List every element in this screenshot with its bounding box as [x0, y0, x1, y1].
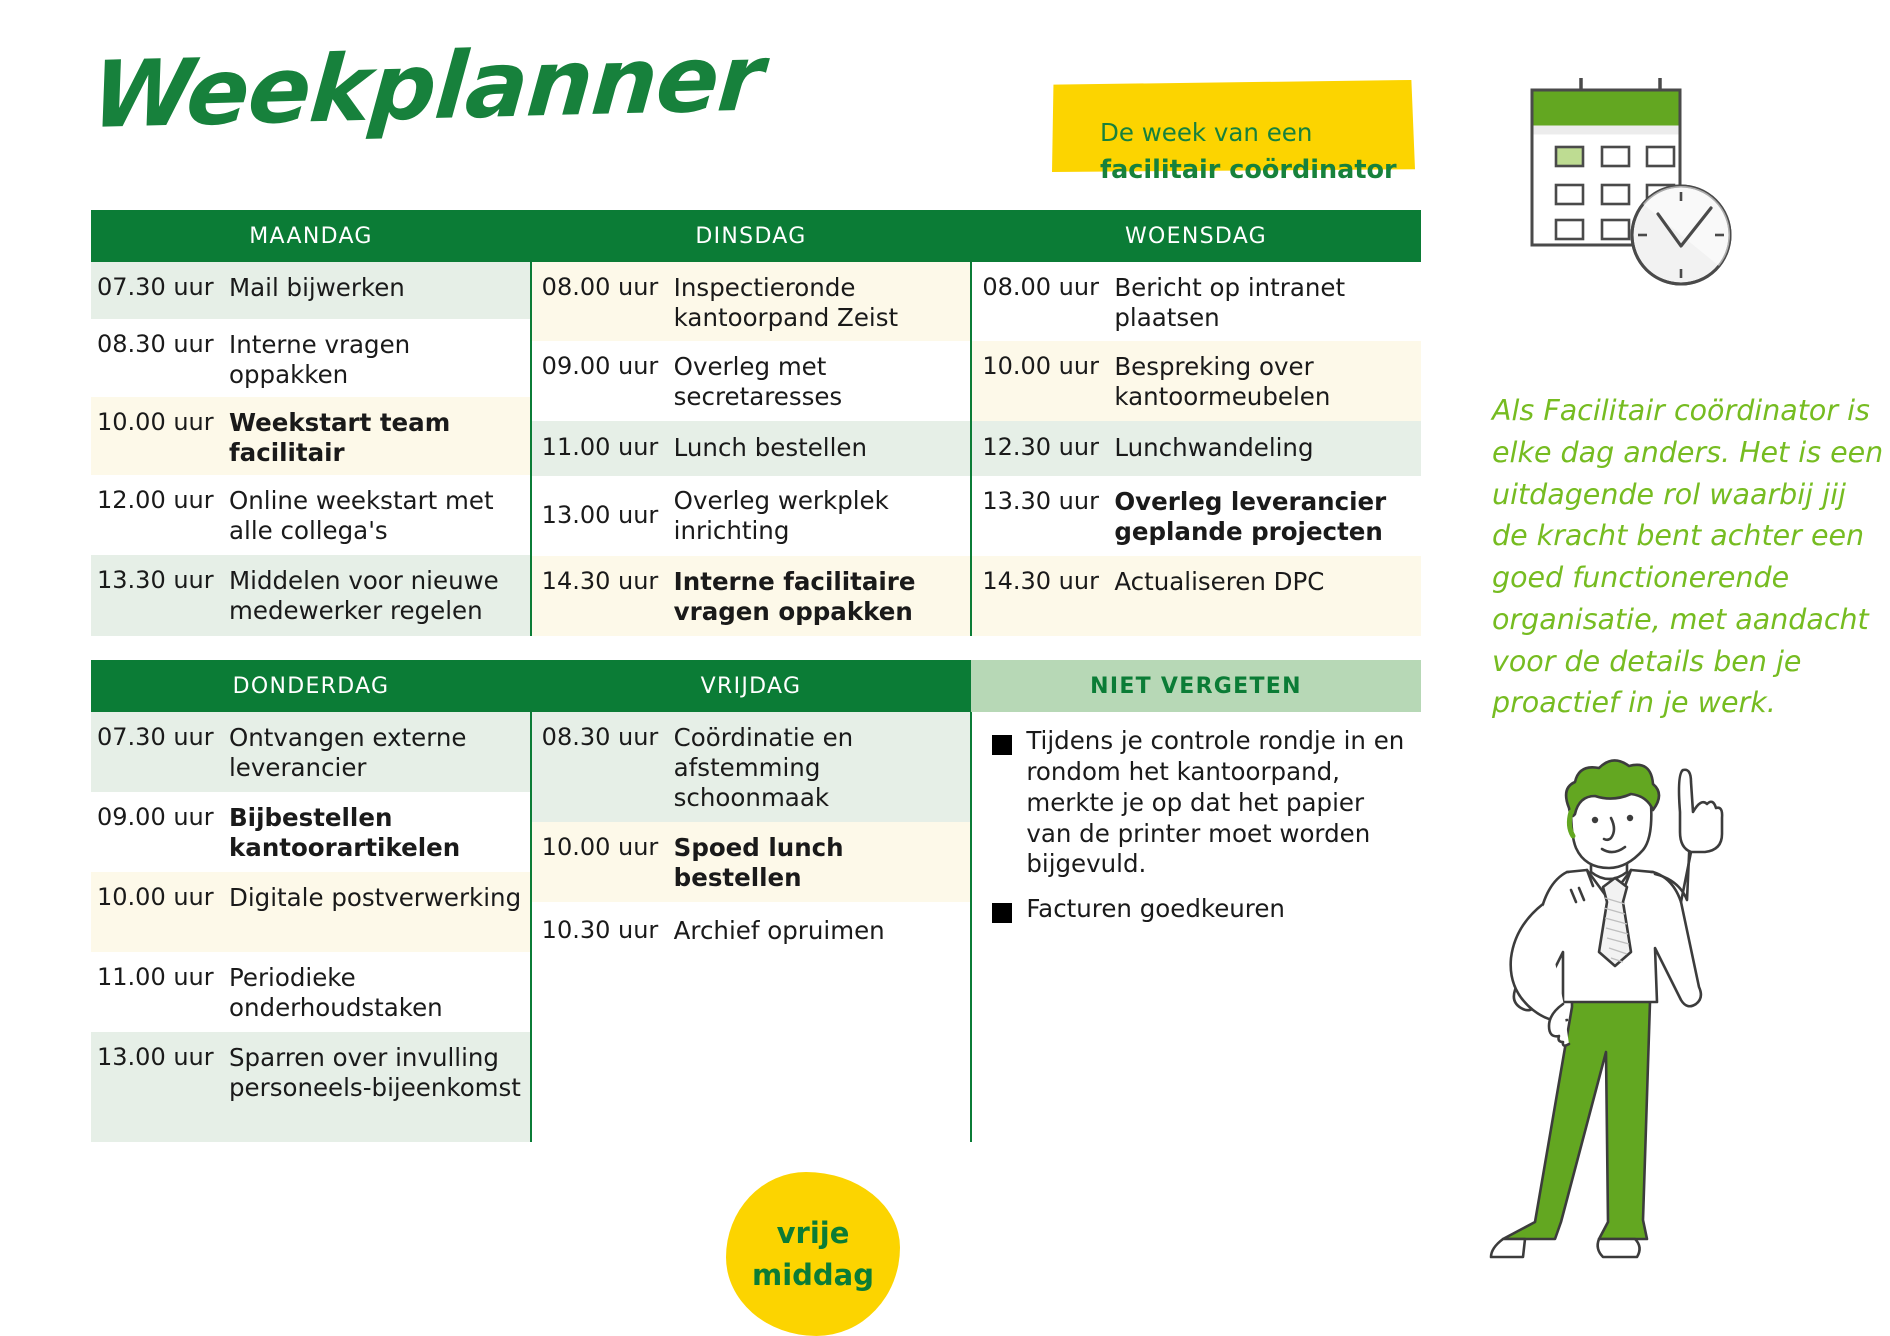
- table-row: 14.30 uur Actualiseren DPC: [972, 556, 1421, 636]
- row-time: 10.00 uur: [978, 352, 1106, 382]
- table-row: 07.30 uur Mail bijwerken: [91, 262, 530, 319]
- row-task: Lunch bestellen: [666, 433, 965, 463]
- free-afternoon-label: vrije middag: [726, 1172, 900, 1336]
- row-time: 13.00 uur: [538, 501, 666, 531]
- table-row: 13.00 uur Overleg werkplek inrichting: [532, 476, 971, 556]
- planner-block-2: DONDERDAG VRIJDAG NIET VERGETEN 07.30 uu…: [91, 660, 1421, 1142]
- row-time: 12.00 uur: [97, 486, 221, 516]
- notes-column: Tijdens je controle rondje in en rondom …: [970, 712, 1421, 1142]
- free-afternoon-line1: vrije: [777, 1212, 850, 1254]
- row-task: Overleg met secretaresses: [666, 352, 965, 412]
- row-task: Overleg leverancier geplande projecten: [1106, 487, 1415, 547]
- row-task: Bijbestellen kantoorartikelen: [221, 803, 524, 863]
- row-time: 09.00 uur: [538, 352, 666, 382]
- row-task: Online weekstart met alle collega's: [221, 486, 524, 546]
- row-task: Archief opruimen: [666, 916, 965, 946]
- day-column-dinsdag: 08.00 uur Inspectieronde kantoorpand Zei…: [530, 262, 971, 636]
- day-header-woensdag: WOENSDAG: [971, 210, 1421, 262]
- row-task: Weekstart team facilitair: [221, 408, 524, 468]
- table-row: 10.00 uur Digitale postverwerking: [91, 872, 530, 952]
- day-header-row-1: MAANDAG DINSDAG WOENSDAG: [91, 210, 1421, 262]
- page-title: Weekplanner: [88, 25, 767, 149]
- table-row: 10.00 uur Spoed lunch bestellen: [532, 822, 971, 902]
- row-task: Interne vragen oppakken: [221, 330, 524, 390]
- row-task: Inspectieronde kantoorpand Zeist: [666, 273, 965, 333]
- day-header-row-2: DONDERDAG VRIJDAG NIET VERGETEN: [91, 660, 1421, 712]
- table-row: 13.30 uur Overleg leverancier geplande p…: [972, 476, 1421, 556]
- day-header-dinsdag: DINSDAG: [531, 210, 971, 262]
- row-time: 10.00 uur: [97, 408, 221, 438]
- row-time: 09.00 uur: [97, 803, 221, 833]
- table-row: 08.00 uur Bericht op intranet plaatsen: [972, 262, 1421, 341]
- row-time: 11.00 uur: [97, 963, 221, 993]
- row-time: 07.30 uur: [97, 273, 221, 303]
- day-column-woensdag: 08.00 uur Bericht op intranet plaatsen 1…: [970, 262, 1421, 636]
- row-task: Middelen voor nieuwe medewerker regelen: [221, 566, 524, 626]
- row-time: 08.30 uur: [97, 330, 221, 360]
- row-task: Spoed lunch bestellen: [666, 833, 965, 893]
- day-header-vrijdag: VRIJDAG: [531, 660, 971, 712]
- table-row: 08.30 uur Interne vragen oppakken: [91, 319, 530, 397]
- table-row: 12.00 uur Online weekstart met alle coll…: [91, 475, 530, 555]
- row-time: 14.30 uur: [538, 567, 666, 597]
- row-task: Digitale postverwerking: [221, 883, 524, 913]
- row-time: 10.00 uur: [538, 833, 666, 863]
- row-task: Interne facilitaire vragen oppakken: [666, 567, 965, 627]
- day-column-donderdag: 07.30 uur Ontvangen externe leverancier …: [91, 712, 530, 1142]
- checkbox-square-icon[interactable]: [992, 735, 1012, 755]
- table-row: 10.00 uur Weekstart team facilitair: [91, 397, 530, 475]
- table-row: 07.30 uur Ontvangen externe leverancier: [91, 712, 530, 792]
- day-columns-row-2: 07.30 uur Ontvangen externe leverancier …: [91, 712, 1421, 1142]
- row-time: 10.30 uur: [538, 916, 666, 946]
- table-row: 08.00 uur Inspectieronde kantoorpand Zei…: [532, 262, 971, 341]
- row-time: 13.30 uur: [978, 487, 1106, 517]
- row-task: Bericht op intranet plaatsen: [1106, 273, 1415, 333]
- table-row: 09.00 uur Overleg met secretaresses: [532, 341, 971, 421]
- checkbox-square-icon[interactable]: [992, 903, 1012, 923]
- row-task: Overleg werkplek inrichting: [666, 486, 965, 546]
- row-time: 13.30 uur: [97, 566, 221, 596]
- day-column-vrijdag: 08.30 uur Coördinatie en afstemming scho…: [530, 712, 971, 1142]
- planner-block-1: MAANDAG DINSDAG WOENSDAG 07.30 uur Mail …: [91, 210, 1421, 636]
- table-row: 12.30 uur Lunchwandeling: [972, 421, 1421, 476]
- free-afternoon-line2: middag: [752, 1254, 874, 1296]
- row-task: Ontvangen externe leverancier: [221, 723, 524, 783]
- table-row: 13.00 uur Sparren over invulling persone…: [91, 1032, 530, 1142]
- vrijdag-empty-space: [532, 960, 971, 1142]
- table-row: 10.30 uur Archief opruimen: [532, 902, 971, 960]
- row-task: Sparren over invulling personeels-bijeen…: [221, 1043, 524, 1103]
- table-row: 10.00 uur Bespreking over kantoormeubele…: [972, 341, 1421, 421]
- row-time: 13.00 uur: [97, 1043, 221, 1073]
- planner-grid: MAANDAG DINSDAG WOENSDAG 07.30 uur Mail …: [91, 210, 1421, 1142]
- weekplanner-page: Weekplanner De week van een facilitair c…: [0, 0, 1890, 1336]
- row-time: 08.30 uur: [538, 723, 666, 753]
- row-time: 11.00 uur: [538, 433, 666, 463]
- row-time: 14.30 uur: [978, 567, 1106, 597]
- table-row: 08.30 uur Coördinatie en afstemming scho…: [532, 712, 971, 822]
- table-row: 13.30 uur Middelen voor nieuwe medewerke…: [91, 555, 530, 636]
- row-task: Coördinatie en afstemming schoonmaak: [666, 723, 965, 813]
- day-header-donderdag: DONDERDAG: [91, 660, 531, 712]
- note-text: Facturen goedkeuren: [1026, 894, 1285, 925]
- role-description: Als Facilitair coördinator is elke dag a…: [1492, 390, 1888, 724]
- row-task: Mail bijwerken: [221, 273, 524, 303]
- table-row: 14.30 uur Interne facilitaire vragen opp…: [532, 556, 971, 636]
- notes-list: Tijdens je controle rondje in en rondom …: [972, 712, 1421, 925]
- role-badge-line1: De week van een: [1100, 118, 1312, 147]
- note-text: Tijdens je controle rondje in en rondom …: [1026, 726, 1415, 880]
- person-illustration: [1475, 752, 1875, 1322]
- role-badge-line2: facilitair coördinator: [1100, 155, 1397, 185]
- row-time: 08.00 uur: [538, 273, 666, 303]
- row-time: 07.30 uur: [97, 723, 221, 753]
- row-task: Periodieke onderhoudstaken: [221, 963, 524, 1023]
- row-task: Lunchwandeling: [1106, 433, 1415, 463]
- row-time: 10.00 uur: [97, 883, 221, 913]
- row-task: Actualiseren DPC: [1106, 567, 1415, 597]
- day-header-maandag: MAANDAG: [91, 210, 531, 262]
- row-time: 12.30 uur: [978, 433, 1106, 463]
- table-row: 11.00 uur Lunch bestellen: [532, 421, 971, 476]
- calendar-clock-icon: [1515, 70, 1765, 300]
- day-column-maandag: 07.30 uur Mail bijwerken 08.30 uur Inter…: [91, 262, 530, 636]
- day-columns-row-1: 07.30 uur Mail bijwerken 08.30 uur Inter…: [91, 262, 1421, 636]
- row-time: 08.00 uur: [978, 273, 1106, 303]
- list-item: Facturen goedkeuren: [986, 894, 1415, 925]
- day-header-niet-vergeten: NIET VERGETEN: [971, 660, 1421, 712]
- list-item: Tijdens je controle rondje in en rondom …: [986, 726, 1415, 880]
- table-row: 09.00 uur Bijbestellen kantoorartikelen: [91, 792, 530, 872]
- row-task: Bespreking over kantoormeubelen: [1106, 352, 1415, 412]
- table-row: 11.00 uur Periodieke onderhoudstaken: [91, 952, 530, 1032]
